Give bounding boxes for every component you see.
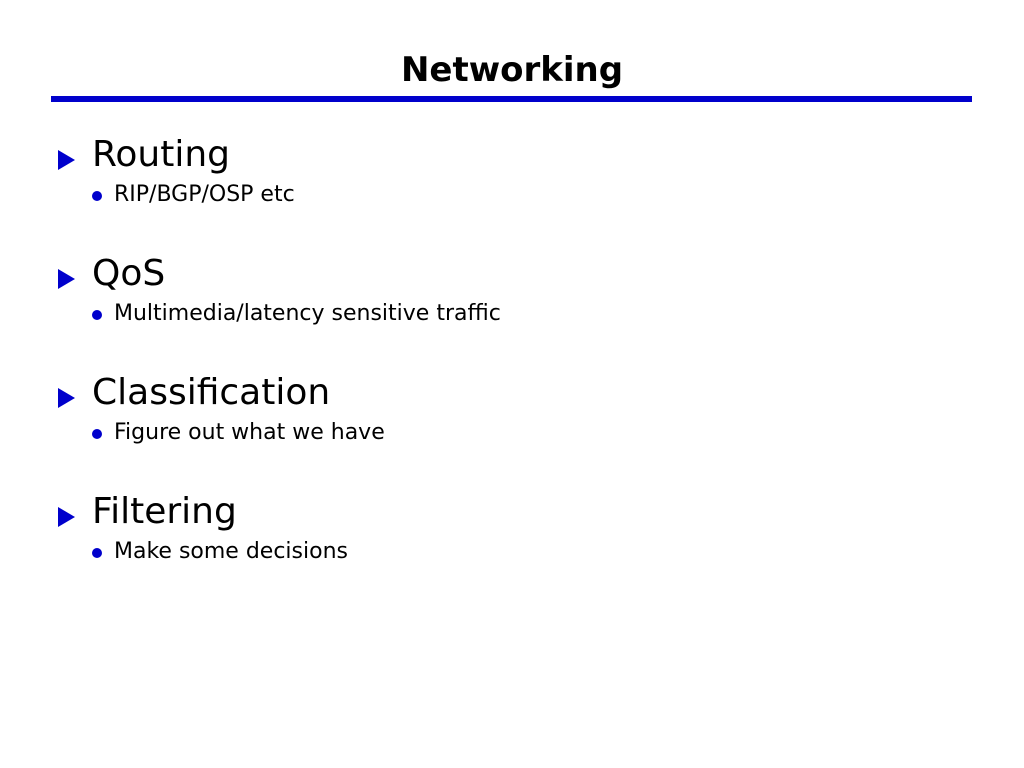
bullet-level1-classification: Classification bbox=[0, 370, 1024, 418]
bullet-level1-routing: Routing bbox=[0, 132, 1024, 180]
outline-group-qos: QoS Multimedia/latency sensitive traffic bbox=[0, 251, 1024, 370]
bullet-level2-classification: Figure out what we have bbox=[0, 418, 1024, 450]
bullet-level2-routing: RIP/BGP/OSP etc bbox=[0, 180, 1024, 212]
bullet-level1-label: Classification bbox=[92, 370, 1024, 416]
slide-title: Networking bbox=[0, 50, 1024, 90]
bullet-level1-filtering: Filtering bbox=[0, 489, 1024, 537]
bullet-level2-label: Make some decisions bbox=[114, 537, 1024, 567]
bullet-level2-qos: Multimedia/latency sensitive traffic bbox=[0, 299, 1024, 331]
outline-group-filtering: Filtering Make some decisions bbox=[0, 489, 1024, 608]
bullet-dot-marker-icon bbox=[92, 191, 102, 201]
bullet-level1-label: Routing bbox=[92, 132, 1024, 178]
bullet-level2-label: Multimedia/latency sensitive traffic bbox=[114, 299, 1024, 329]
triangle-right-marker-icon bbox=[58, 269, 75, 289]
bullet-dot-marker-icon bbox=[92, 429, 102, 439]
bullet-level1-qos: QoS bbox=[0, 251, 1024, 299]
triangle-right-marker-icon bbox=[58, 150, 75, 170]
bullet-level2-filtering: Make some decisions bbox=[0, 537, 1024, 569]
title-divider-rule bbox=[51, 96, 972, 102]
bullet-dot-marker-icon bbox=[92, 548, 102, 558]
slide-body-outline: Routing RIP/BGP/OSP etc QoS Multimedia/l… bbox=[0, 132, 1024, 608]
bullet-level2-label: Figure out what we have bbox=[114, 418, 1024, 448]
bullet-level1-label: Filtering bbox=[92, 489, 1024, 535]
presentation-slide: Networking Routing RIP/BGP/OSP etc QoS M… bbox=[0, 0, 1024, 768]
bullet-dot-marker-icon bbox=[92, 310, 102, 320]
triangle-right-marker-icon bbox=[58, 507, 75, 527]
outline-group-classification: Classification Figure out what we have bbox=[0, 370, 1024, 489]
bullet-level1-label: QoS bbox=[92, 251, 1024, 297]
outline-group-routing: Routing RIP/BGP/OSP etc bbox=[0, 132, 1024, 251]
triangle-right-marker-icon bbox=[58, 388, 75, 408]
bullet-level2-label: RIP/BGP/OSP etc bbox=[114, 180, 1024, 210]
